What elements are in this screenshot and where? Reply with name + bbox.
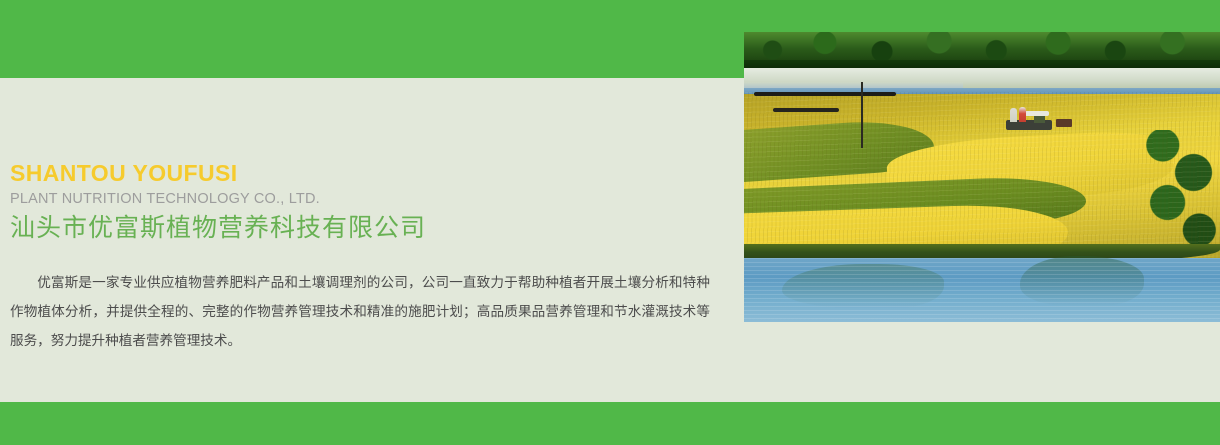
company-name-chinese: 汕头市优富斯植物营养科技有限公司 bbox=[10, 213, 722, 243]
page-root: SHANTOU YOUFUSI PLANT NUTRITION TECHNOLO… bbox=[0, 0, 1220, 445]
photo-tractor-cab bbox=[1034, 115, 1045, 123]
company-intro-paragraph: 优富斯是一家专业供应植物营养肥料产品和土壤调理剂的公司，公司一直致力于帮助种植者… bbox=[10, 269, 710, 356]
photo-farmer-left bbox=[1010, 108, 1017, 122]
photo-crop-texture bbox=[744, 92, 1220, 268]
photo-trailer bbox=[1056, 119, 1072, 127]
photo-treeline bbox=[744, 32, 1220, 62]
farmland-photo bbox=[744, 32, 1220, 322]
photo-boat-far bbox=[754, 92, 897, 96]
photo-utility-pole bbox=[861, 82, 863, 148]
photo-boat-near bbox=[773, 108, 840, 112]
company-intro-column: SHANTOU YOUFUSI PLANT NUTRITION TECHNOLO… bbox=[10, 160, 722, 356]
photo-tractor-canopy bbox=[1025, 111, 1049, 116]
photo-farmer-right bbox=[1019, 107, 1026, 122]
bottom-green-band bbox=[0, 402, 1220, 445]
farmland-photo-inner bbox=[744, 32, 1220, 322]
photo-pond-ripples bbox=[744, 258, 1220, 322]
company-tagline-english: PLANT NUTRITION TECHNOLOGY CO., LTD. bbox=[10, 189, 722, 209]
company-name-english: SHANTOU YOUFUSI bbox=[10, 160, 722, 186]
